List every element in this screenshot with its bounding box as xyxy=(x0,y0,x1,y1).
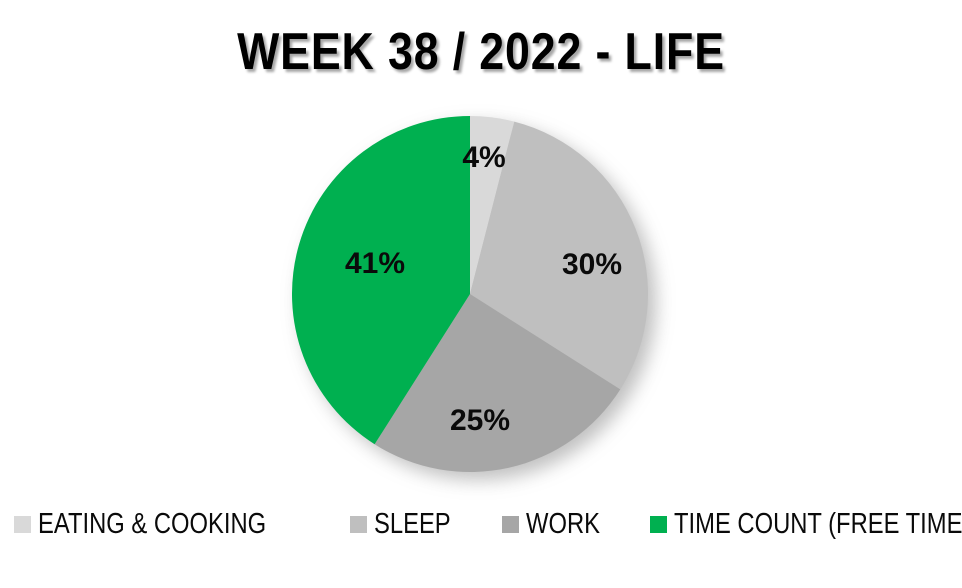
legend-item[interactable]: TIME COUNT (FREE TIME) xyxy=(650,510,962,539)
pie-data-label: 41% xyxy=(345,247,405,281)
pie-chart: 4%30%25%41% xyxy=(292,114,656,478)
legend-item[interactable]: WORK xyxy=(502,510,616,539)
pie-data-label: 4% xyxy=(462,141,505,175)
chart-plot-area: 4%30%25%41% xyxy=(0,100,962,495)
pie-data-label: 30% xyxy=(562,248,622,282)
chart-legend: EATING & COOKINGSLEEPWORKTIME COUNT (FRE… xyxy=(0,503,962,545)
pie-data-label: 25% xyxy=(450,404,510,438)
legend-swatch-icon xyxy=(502,516,519,533)
legend-item-label: TIME COUNT (FREE TIME) xyxy=(674,510,962,539)
legend-item[interactable]: SLEEP xyxy=(350,510,468,539)
legend-item-label: SLEEP xyxy=(374,510,451,539)
legend-swatch-icon xyxy=(650,516,667,533)
legend-item-label: WORK xyxy=(526,510,600,539)
legend-swatch-icon xyxy=(14,516,31,533)
legend-item[interactable]: EATING & COOKING xyxy=(14,510,316,539)
chart-title: WEEK 38 / 2022 - LIFE xyxy=(67,22,894,82)
legend-item-label: EATING & COOKING xyxy=(38,510,266,539)
legend-swatch-icon xyxy=(350,516,367,533)
